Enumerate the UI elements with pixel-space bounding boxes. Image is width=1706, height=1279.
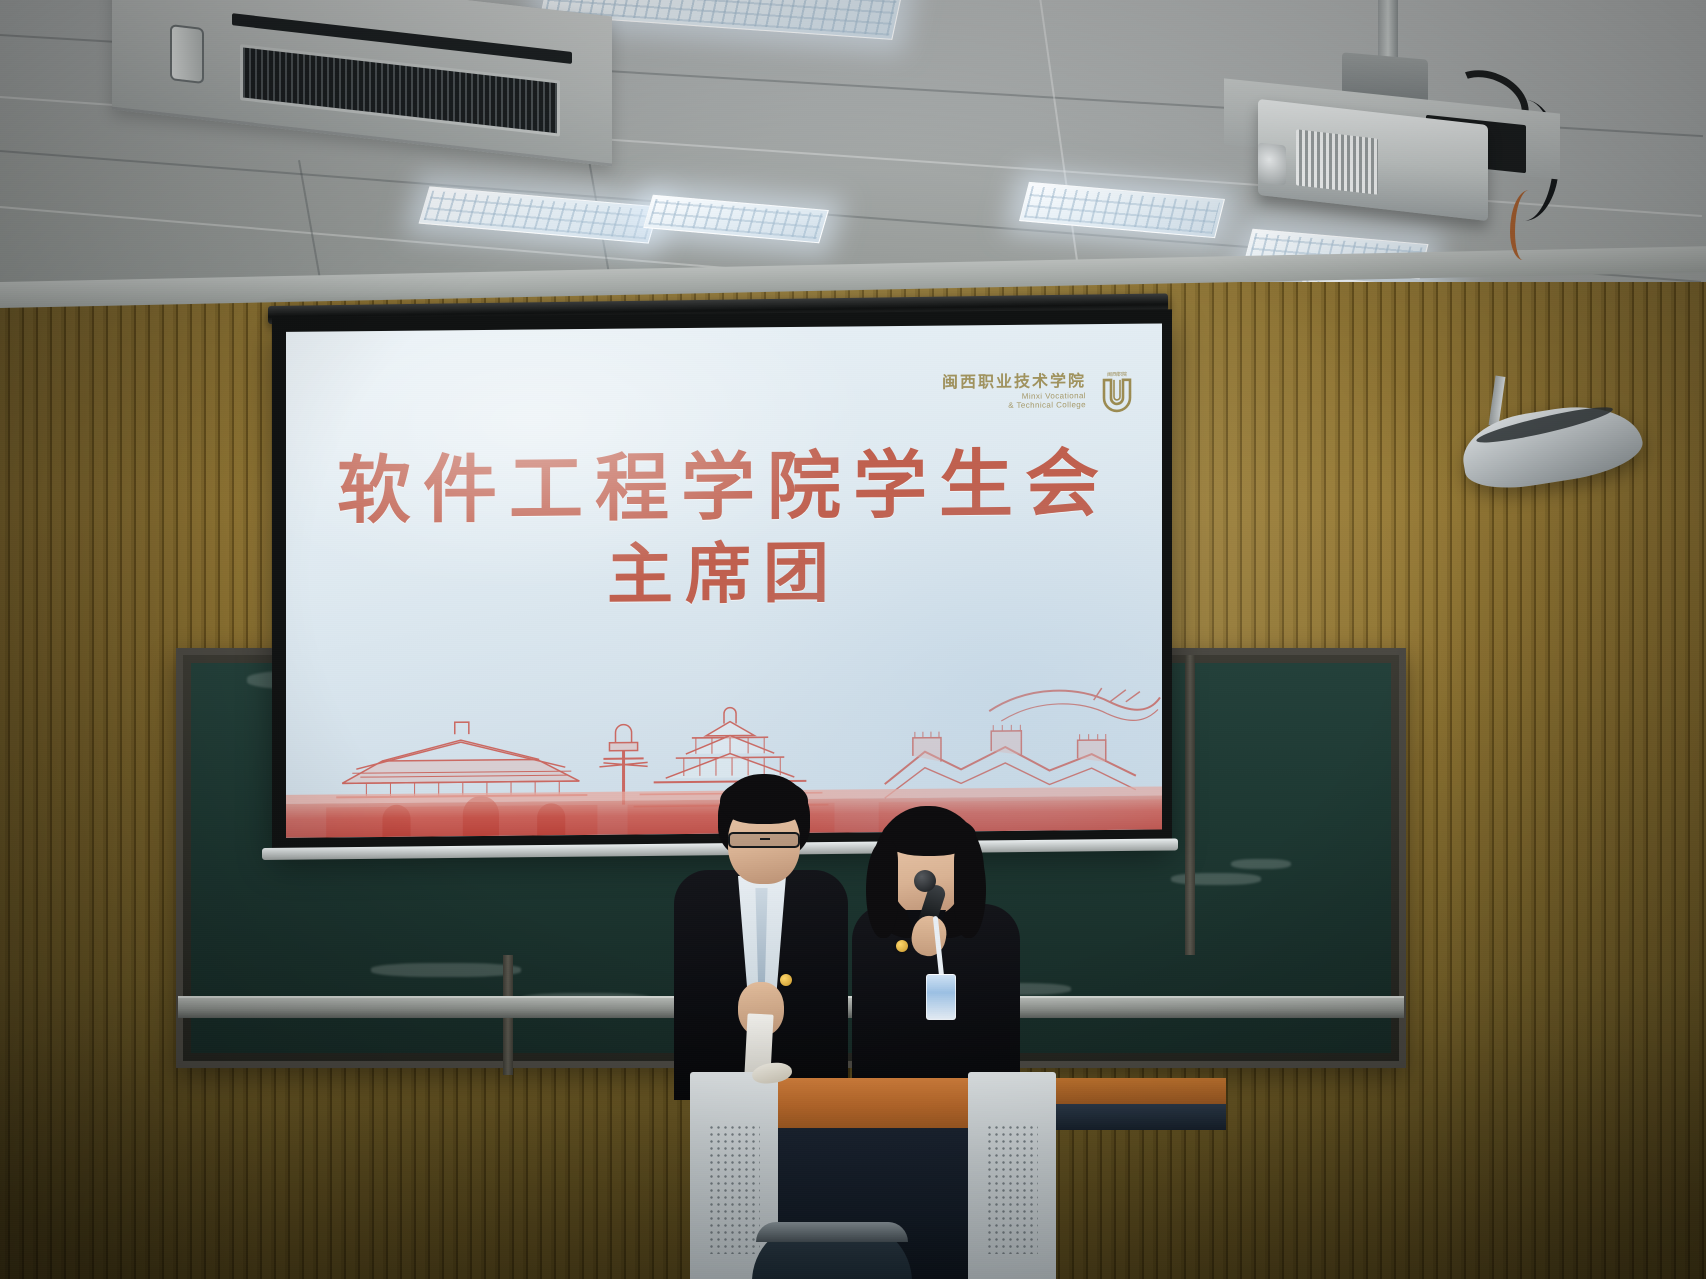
slide-title-line1: 软件工程学院学生会: [286, 441, 1162, 537]
air-conditioner-unit: [112, 0, 612, 166]
id-badge: [926, 974, 956, 1020]
lectern-side-panel-right: [968, 1072, 1056, 1279]
college-name-en-line2: & Technical College: [942, 400, 1086, 411]
presenter-right-lapel-pin: [896, 940, 908, 952]
lectern-speaker-grille: [708, 1124, 760, 1254]
chair-rim: [756, 1222, 908, 1242]
college-logo-text: 闽西职业技术学院 Minxi Vocational & Technical Co…: [942, 373, 1086, 411]
college-logo: 闽西职业技术学院 Minxi Vocational & Technical Co…: [942, 368, 1140, 416]
ceiling-light-panel: [419, 186, 660, 243]
slide-title-line2: 主席团: [286, 529, 1162, 623]
slide-title: 软件工程学院学生会 主席团: [286, 441, 1162, 623]
college-logo-mark: 闽西职院: [1094, 368, 1140, 414]
presenter-right-hair-side: [954, 842, 986, 938]
projector-lens: [1258, 142, 1286, 185]
air-conditioner-knob: [170, 24, 204, 84]
projection-screen: 闽西职业技术学院 Minxi Vocational & Technical Co…: [272, 309, 1172, 850]
presenter-right-hair-side: [866, 842, 898, 938]
projector-vent: [1296, 129, 1378, 194]
ceiling-light-panel: [643, 195, 829, 244]
college-name-cn: 闽西职业技术学院: [942, 373, 1086, 393]
air-conditioner-grille: [240, 44, 560, 136]
side-desk-body: [1046, 1104, 1226, 1130]
microphone-head: [914, 870, 936, 892]
photo-scene: 闽西职业技术学院 Minxi Vocational & Technical Co…: [0, 0, 1706, 1279]
presenter-left-glasses-bridge: [760, 838, 770, 840]
slide: 闽西职业技术学院 Minxi Vocational & Technical Co…: [286, 323, 1162, 837]
lectern-speaker-grille: [986, 1124, 1038, 1254]
projector-mount-pole: [1378, 0, 1398, 64]
lectern-worktop: [742, 1078, 1004, 1130]
svg-text:闽西职院: 闽西职院: [1107, 371, 1127, 378]
presenter-left: [666, 778, 856, 1098]
presenter-left-fringe: [720, 778, 808, 824]
side-desk-top: [1046, 1078, 1226, 1104]
ceiling-light-panel: [1019, 182, 1225, 238]
presenter-left-lapel-pin: [780, 974, 792, 986]
